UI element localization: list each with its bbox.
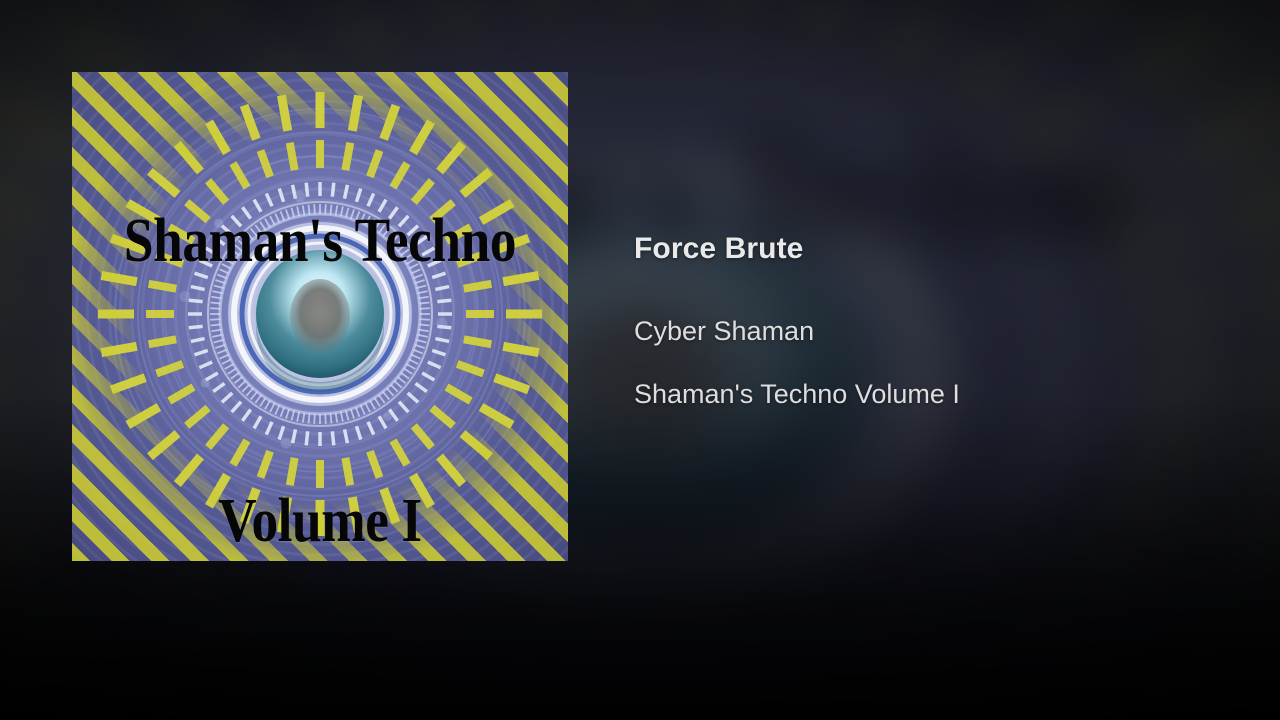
artist-name[interactable]: Cyber Shaman: [634, 316, 1234, 347]
album-artwork: Shaman's Techno Volume I: [72, 72, 568, 561]
video-player-stage: Shaman's Techno Volume I: [0, 0, 1280, 720]
cover-title-text: Shaman's Techno: [107, 210, 534, 272]
track-metadata-block: Force Brute Cyber Shaman Shaman's Techno…: [634, 232, 1234, 410]
album-name[interactable]: Shaman's Techno Volume I: [634, 379, 1234, 410]
track-title: Force Brute: [634, 232, 1234, 267]
cover-subtitle-text: Volume I: [107, 490, 534, 552]
album-cover-image[interactable]: Shaman's Techno Volume I: [72, 72, 568, 561]
